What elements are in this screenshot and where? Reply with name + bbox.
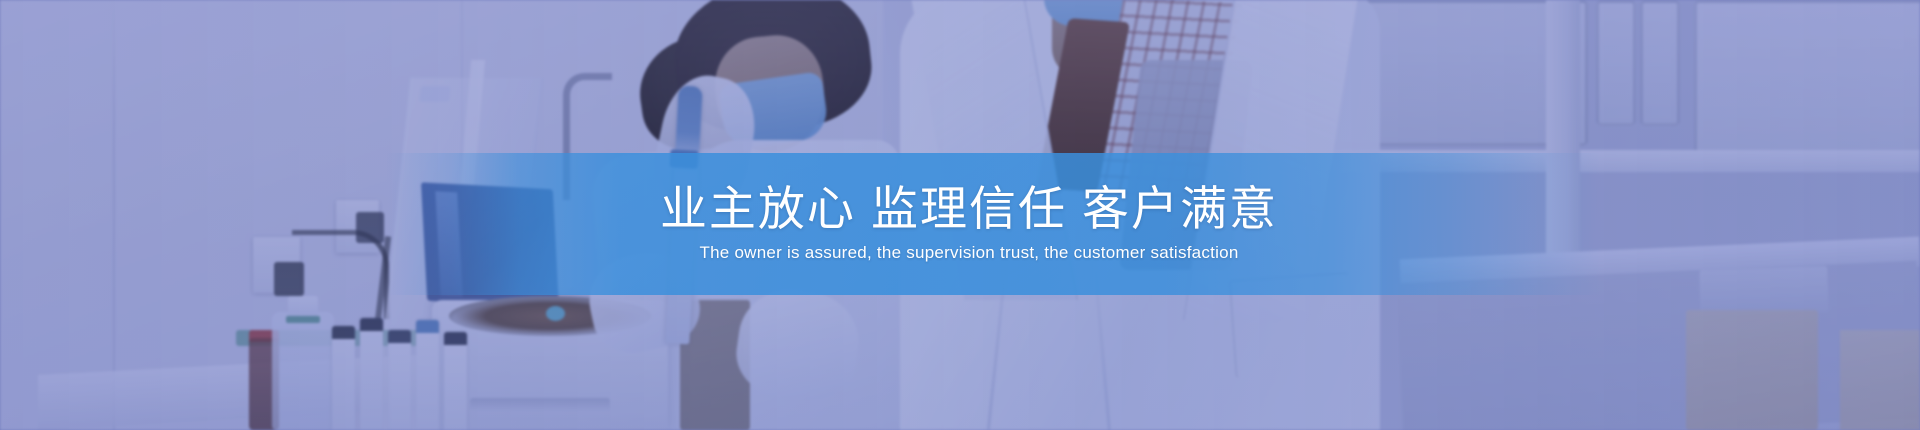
slogan-band-content: 业主放心 监理信任 客户满意 The owner is assured, the… — [0, 153, 1920, 295]
slogan-subline: The owner is assured, the supervision tr… — [681, 243, 1238, 263]
slogan-band: 业主放心 监理信任 客户满意 The owner is assured, the… — [0, 153, 1920, 295]
slogan-headline: 业主放心 监理信任 客户满意 — [642, 184, 1278, 234]
hero-banner: 业主放心 监理信任 客户满意 The owner is assured, the… — [0, 0, 1920, 430]
